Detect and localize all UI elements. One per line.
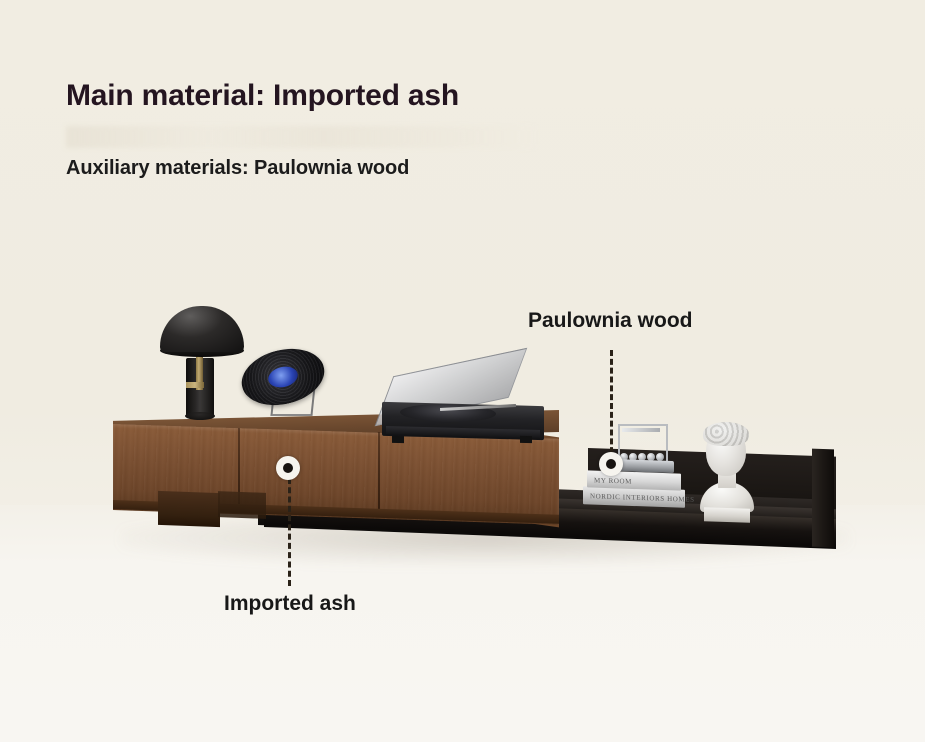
turntable-foot-right <box>520 436 532 443</box>
drawer-seam-right <box>378 432 380 510</box>
callout-leader-line-paulownia <box>610 350 613 462</box>
cradle-ball <box>656 453 664 461</box>
david-bust-hair <box>703 422 749 446</box>
table-lamp-stem-arm <box>186 382 204 388</box>
page-subtitle: Auxiliary materials: Paulownia wood <box>66 157 409 180</box>
erased-text-artifact <box>66 126 536 148</box>
callout-ring-marker-ash <box>276 456 300 480</box>
callout-ring-marker-paulownia <box>599 452 623 476</box>
page-title: Main material: Imported ash <box>66 79 459 113</box>
callout-label-imported-ash: Imported ash <box>224 592 356 616</box>
product-image-scene: Main material: Imported ash Auxiliary ma… <box>0 0 925 742</box>
callout-label-paulownia-wood: Paulownia wood <box>528 309 693 333</box>
walnut-cabinet-plinth-shadow <box>218 491 266 519</box>
david-bust-plinth <box>704 507 750 523</box>
book-upper-title: MY ROOM <box>594 476 632 485</box>
turntable-foot-left <box>392 436 404 443</box>
callout-leader-line-ash <box>288 478 291 586</box>
black-cabinet-right-end-panel <box>812 449 834 548</box>
table-lamp-foot <box>185 412 215 420</box>
walnut-cabinet-left-plinth-leg <box>158 491 220 527</box>
newtons-cradle-top-bar <box>622 428 660 432</box>
